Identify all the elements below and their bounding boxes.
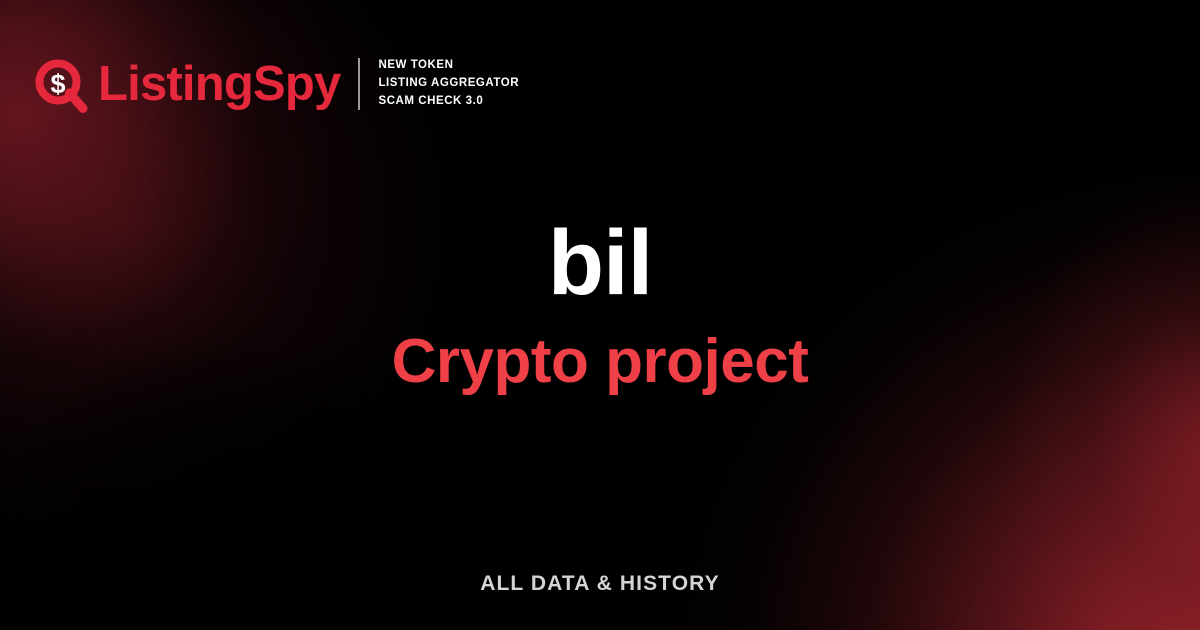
page-title: bil: [548, 217, 652, 309]
footer: ALL DATA & HISTORY: [0, 572, 1200, 596]
magnifier-dollar-icon: $: [32, 55, 88, 113]
brand-header: $ ListingSpy NEW TOKEN LISTING AGGREGATO…: [32, 55, 519, 113]
svg-text:$: $: [50, 69, 65, 99]
social-share-card: $ ListingSpy NEW TOKEN LISTING AGGREGATO…: [0, 0, 1200, 630]
tagline-line-1: NEW TOKEN: [378, 58, 519, 74]
page-subtitle: Crypto project: [392, 329, 809, 394]
header-divider: [358, 58, 360, 110]
tagline-line-3: SCAM CHECK 3.0: [378, 94, 519, 110]
brand-tagline: NEW TOKEN LISTING AGGREGATOR SCAM CHECK …: [378, 58, 519, 110]
footer-text: ALL DATA & HISTORY: [480, 572, 720, 595]
brand-name: ListingSpy: [98, 60, 340, 109]
tagline-line-2: LISTING AGGREGATOR: [378, 76, 519, 92]
